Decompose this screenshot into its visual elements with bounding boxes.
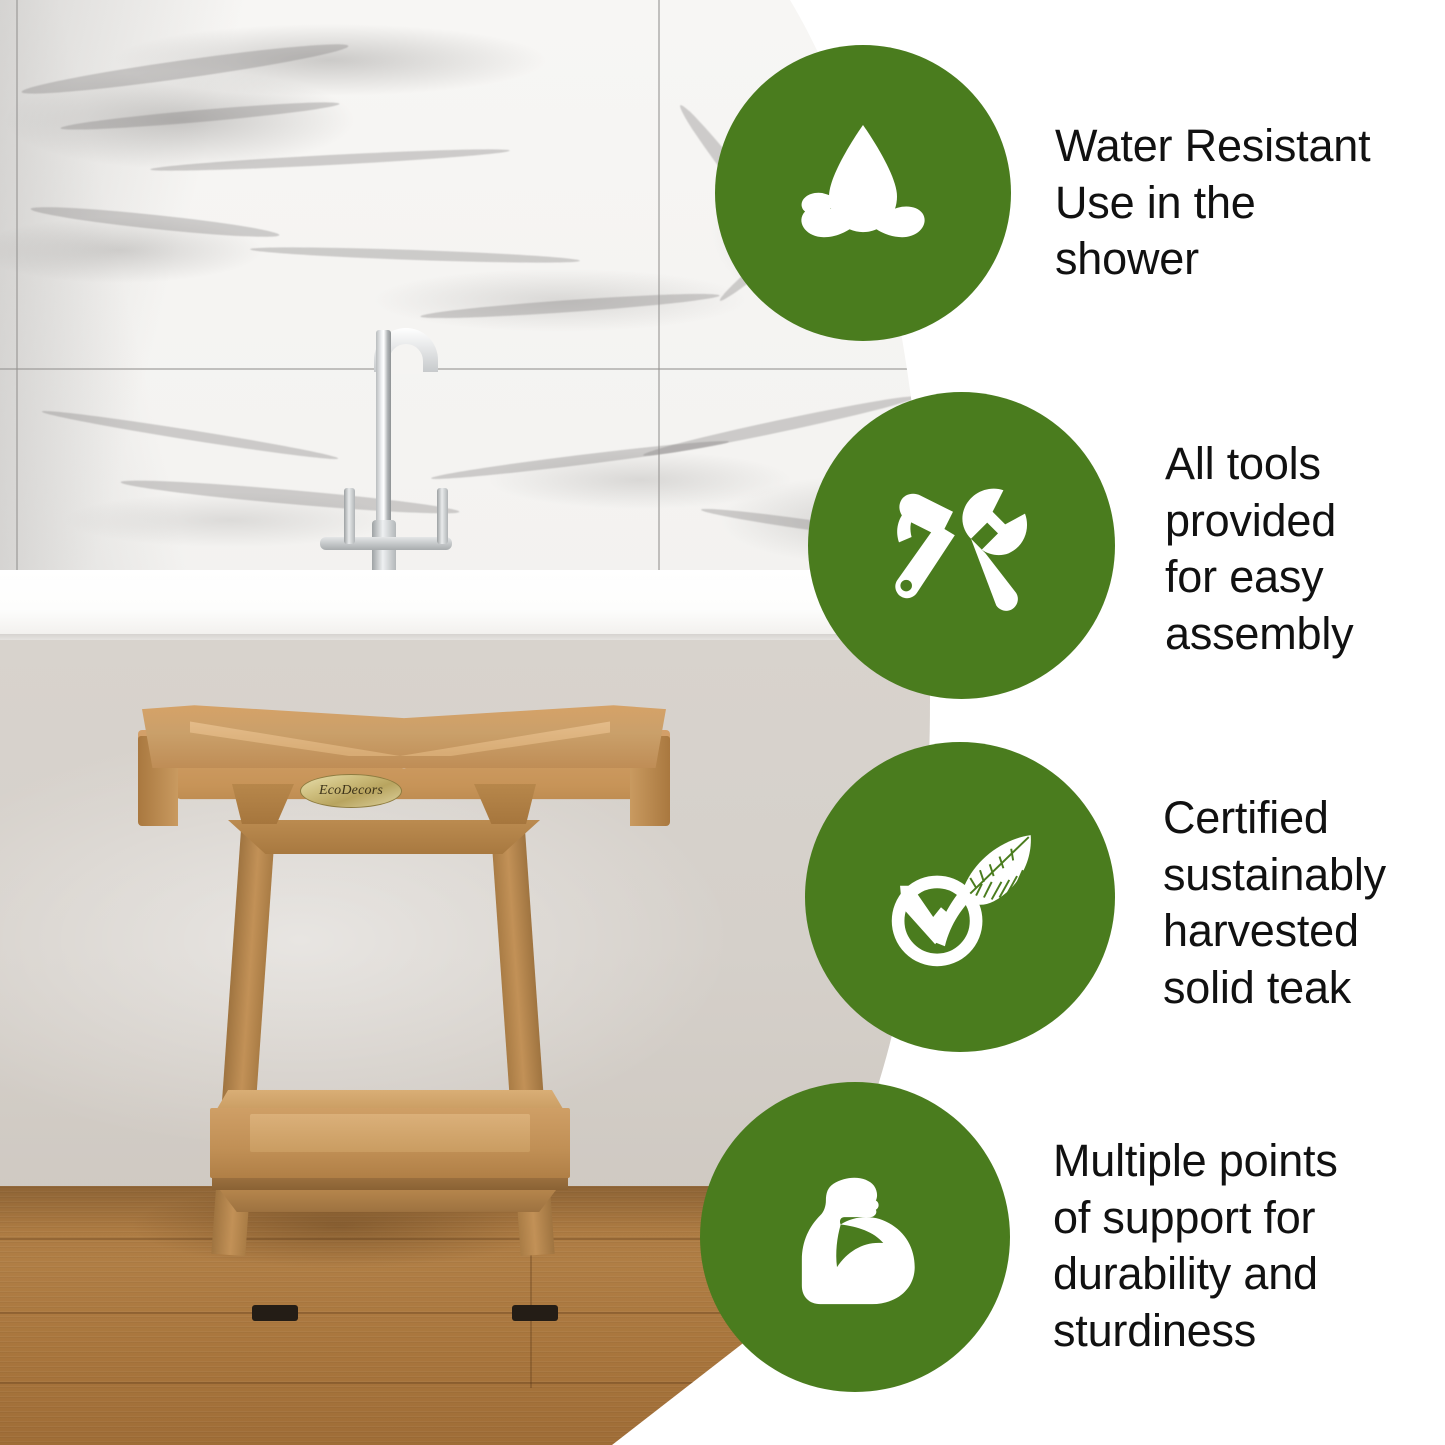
tile-grout-vertical-right — [658, 0, 660, 600]
stool-stretcher — [220, 1190, 556, 1212]
stool-apron — [228, 820, 540, 854]
water-droplet-splash-icon — [715, 45, 1011, 341]
feature-label-water-resistant: Water Resistant Use in the shower — [1055, 118, 1435, 288]
hammer-wrench-tools-icon — [808, 392, 1115, 699]
tile-grout-horizontal — [0, 368, 960, 370]
brand-plaque: EcoDecors — [300, 774, 402, 808]
stool-foot-right — [512, 1305, 558, 1321]
stool-shelf-inlay — [250, 1114, 530, 1152]
feature-label-tools-provided: All tools provided for easy assembly — [1165, 436, 1440, 663]
faucet-handle-bar — [320, 537, 452, 550]
stool-seat-notch-left — [232, 784, 294, 824]
teak-shower-stool: EcoDecors — [60, 690, 700, 1330]
tile-grout-vertical-left — [16, 0, 18, 600]
product-feature-infographic: EcoDecors Water Resistant Use in the sho… — [0, 0, 1445, 1445]
stool-foot-left — [252, 1305, 298, 1321]
feature-label-durability: Multiple points of support for durabilit… — [1053, 1133, 1443, 1360]
faucet-arc-inner — [389, 344, 423, 374]
faucet-handle-right — [437, 488, 448, 544]
feature-label-sustainable-teak: Certified sustainably harvested solid te… — [1163, 790, 1443, 1017]
leaf-checkmark-icon — [805, 742, 1115, 1052]
brand-plaque-label: EcoDecors — [319, 783, 383, 799]
faucet-handle-left — [344, 488, 355, 544]
stool-shelf-underside — [212, 1176, 568, 1190]
stool-seat-notch-right — [474, 784, 536, 824]
faucet-column — [376, 330, 391, 545]
flexed-bicep-icon — [700, 1082, 1010, 1392]
